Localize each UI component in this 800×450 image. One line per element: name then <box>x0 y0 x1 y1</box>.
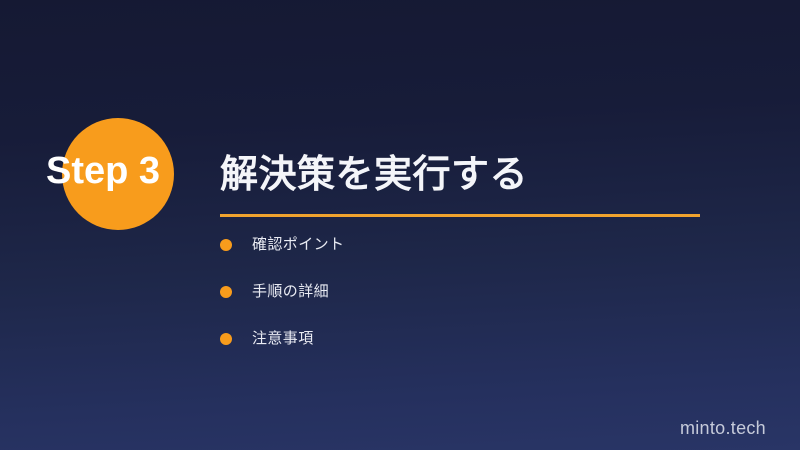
bullet-dot-icon <box>220 286 232 298</box>
list-item-label: 確認ポイント <box>252 233 344 257</box>
step-label: Step 3 <box>46 148 226 194</box>
list-item-label: 手順の詳細 <box>252 280 329 304</box>
list-item: 手順の詳細 <box>220 280 690 327</box>
list-item: 確認ポイント <box>220 233 690 280</box>
bullet-dot-icon <box>220 333 232 345</box>
list-item-label: 注意事項 <box>252 327 314 351</box>
footer-brand: minto.tech <box>680 418 766 439</box>
bullet-dot-icon <box>220 239 232 251</box>
slide-canvas: Step 3 解決策を実行する 確認ポイント 手順の詳細 注意事項 minto.… <box>0 0 800 450</box>
title-divider <box>220 214 700 217</box>
bullet-list: 確認ポイント 手順の詳細 注意事項 <box>220 233 690 374</box>
list-item: 注意事項 <box>220 327 690 374</box>
page-title: 解決策を実行する <box>220 143 528 198</box>
